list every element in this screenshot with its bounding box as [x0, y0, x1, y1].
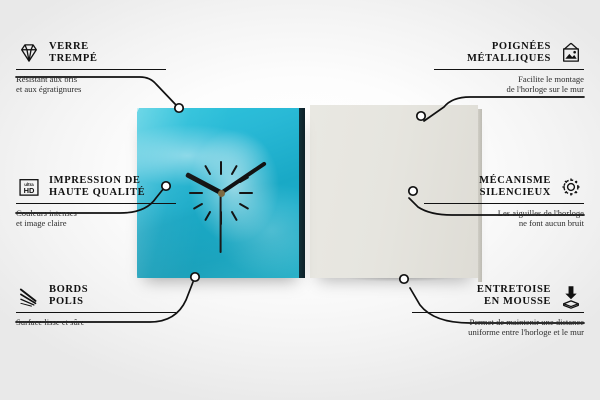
callout-header: MÉCANISME SILENCIEUX	[424, 174, 584, 200]
callout-bords-polis: BORDS POLIS Surface lisse et sûre	[16, 283, 176, 327]
callout-rule	[424, 203, 584, 204]
ultra-hd-icon-bottom-label: HD	[24, 186, 35, 195]
callout-entretoise-en-mousse: ENTRETOISE EN MOUSSE Permet de maintenir…	[412, 283, 584, 338]
callout-rule	[412, 312, 584, 313]
callout-header: POIGNÉES MÉTALLIQUES	[434, 40, 584, 66]
callout-description: Couleurs intenses et image claire	[16, 208, 176, 229]
callout-verre-trempe: VERRE TREMPÉ Résistant aux bris et aux é…	[16, 40, 166, 95]
callout-impression-haute-qualite: ultra HD IMPRESSION DE HAUTE QUALITÉ Cou…	[16, 174, 176, 229]
callout-rule	[434, 69, 584, 70]
glass-edge-bevel	[299, 108, 305, 278]
callout-header: VERRE TREMPÉ	[16, 40, 166, 66]
callout-title: IMPRESSION DE HAUTE QUALITÉ	[49, 175, 145, 200]
infographic-canvas: VERRE TREMPÉ Résistant aux bris et aux é…	[0, 0, 600, 400]
callout-title: POIGNÉES MÉTALLIQUES	[467, 41, 551, 66]
diamond-icon	[16, 40, 42, 66]
callout-title: VERRE TREMPÉ	[49, 41, 98, 66]
foam-spacer-icon	[558, 283, 584, 309]
callout-description: Les aiguilles de l'horloge ne font aucun…	[424, 208, 584, 229]
polished-edges-icon	[16, 283, 42, 309]
callout-description: Facilite le montage de l'horloge sur le …	[434, 74, 584, 95]
callout-title: ENTRETOISE EN MOUSSE	[477, 284, 551, 309]
ultra-hd-icon: ultra HD	[16, 174, 42, 200]
callout-description: Résistant aux bris et aux égratignures	[16, 74, 166, 95]
callout-description: Surface lisse et sûre	[16, 317, 176, 327]
callout-title: BORDS POLIS	[49, 284, 88, 309]
callout-header: BORDS POLIS	[16, 283, 176, 309]
callout-header: ENTRETOISE EN MOUSSE	[412, 283, 584, 309]
callout-description: Permet de maintenir une distance uniform…	[412, 317, 584, 338]
callout-rule	[16, 203, 176, 204]
callout-rule	[16, 69, 166, 70]
callout-mecanisme-silencieux: MÉCANISME SILENCIEUX Les aiguilles de l'…	[424, 174, 584, 229]
callout-header: ultra HD IMPRESSION DE HAUTE QUALITÉ	[16, 174, 176, 200]
callout-rule	[16, 312, 176, 313]
callout-title: MÉCANISME SILENCIEUX	[479, 175, 551, 200]
wall-frame-icon	[558, 40, 584, 66]
callout-poignees-metalliques: POIGNÉES MÉTALLIQUES Facilite le montage…	[434, 40, 584, 95]
gear-icon	[558, 174, 584, 200]
